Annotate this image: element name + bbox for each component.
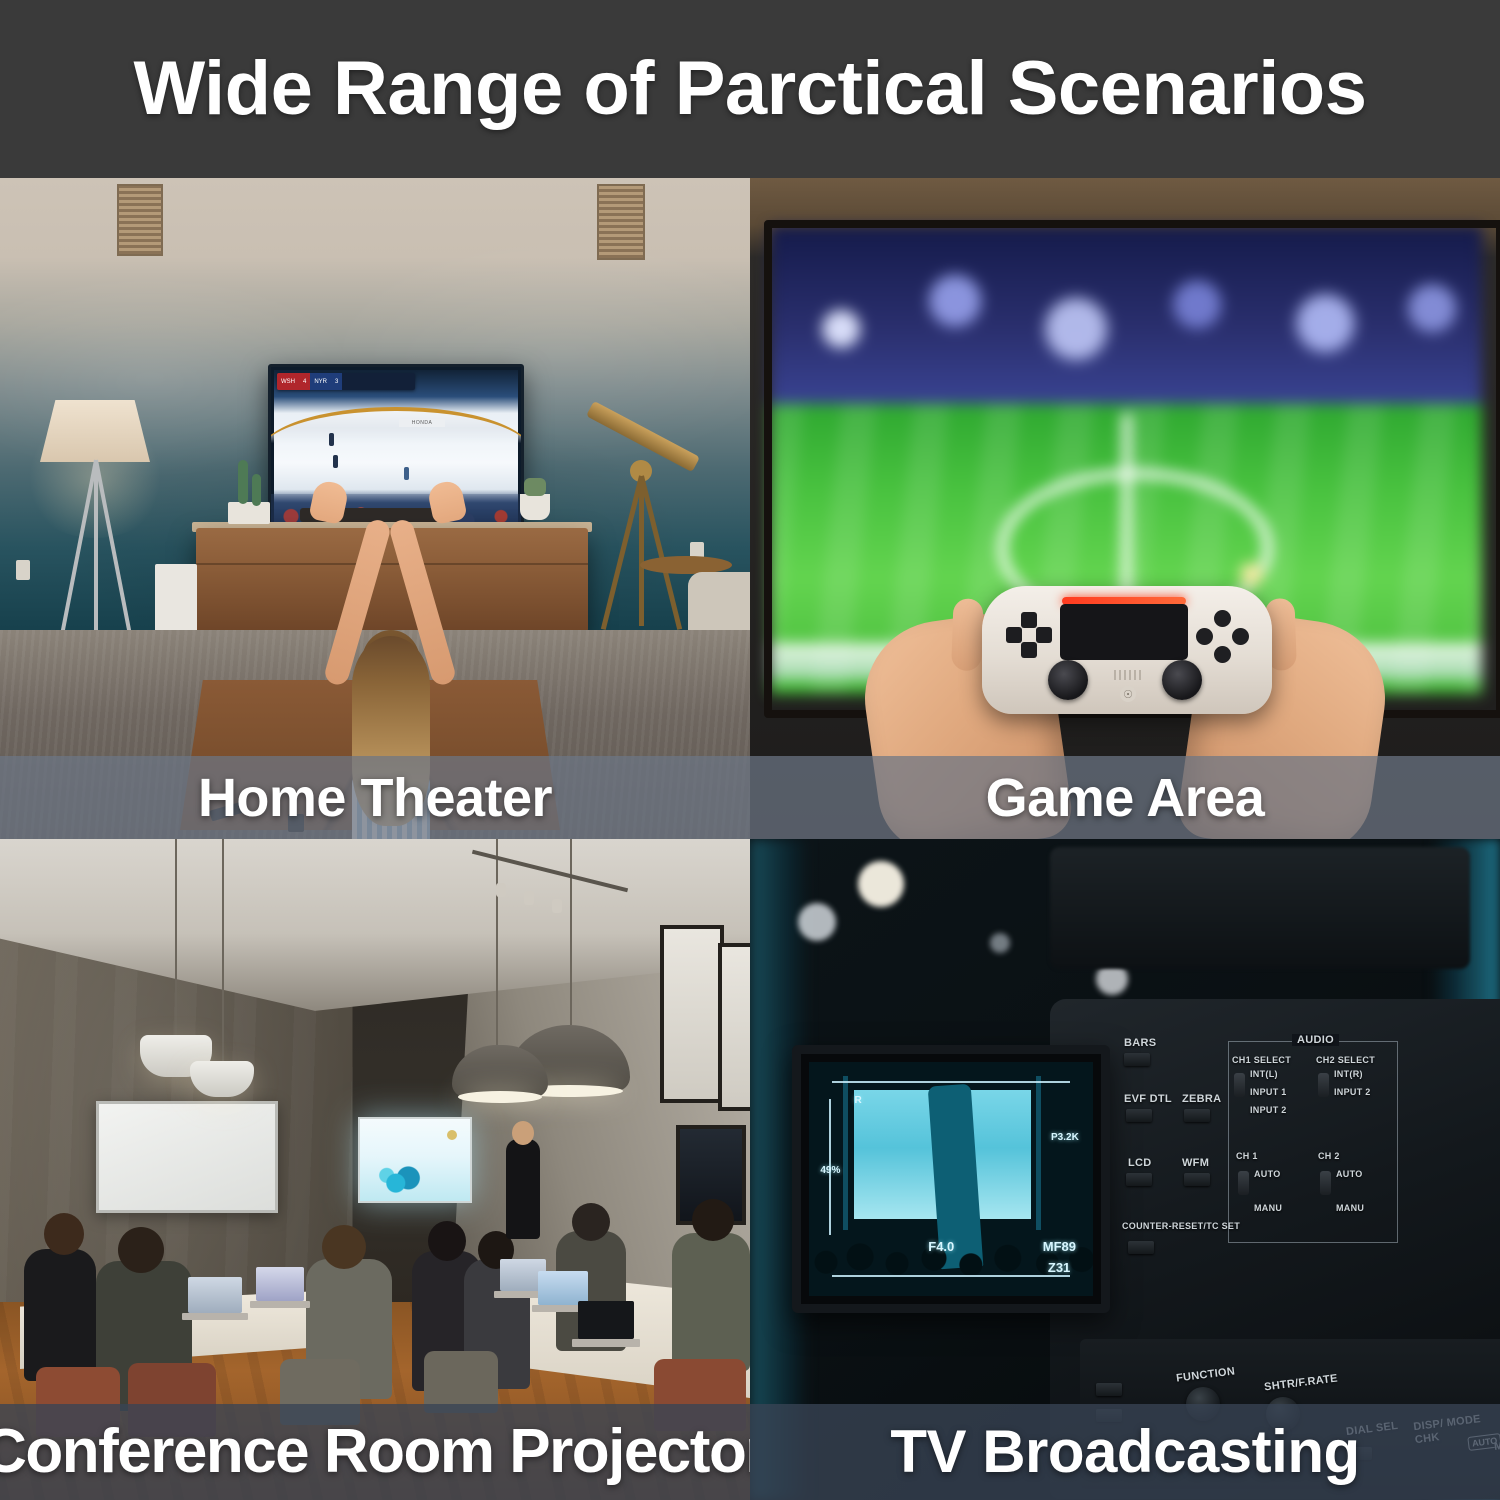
scoreboard: WSH 4 NYR 3: [277, 373, 415, 390]
hockey-player: [333, 455, 338, 468]
dial-sel-label: DIAL SEL: [1345, 1420, 1398, 1438]
shutter-rate-dial[interactable]: [1266, 1397, 1300, 1431]
osd-battery-percent: 49%: [820, 1165, 840, 1176]
cactus-plant: [252, 474, 261, 506]
scoreboard-score-b: 3: [331, 373, 342, 390]
plant-pot: [520, 494, 550, 520]
frame-guide-line: [832, 1275, 1071, 1277]
head: [428, 1221, 466, 1261]
hand: [426, 479, 468, 525]
bokeh-light: [858, 861, 904, 907]
projection-screen: [358, 1117, 472, 1203]
head: [322, 1225, 366, 1269]
counter-reset-label: COUNTER-RESET/TC SET: [1122, 1221, 1240, 1231]
counter-reset-button[interactable]: [1128, 1241, 1154, 1254]
lcd-image: R 49% F4.0 MF89 Z31 P3.2K: [809, 1062, 1093, 1296]
ch2-select-label: CH2 SELECT: [1316, 1055, 1375, 1065]
succulent-plant: [524, 478, 546, 496]
touchpad[interactable]: [1060, 604, 1188, 660]
window: [660, 925, 724, 1103]
chair: [654, 1359, 746, 1431]
hand: [308, 479, 350, 525]
chair: [280, 1359, 360, 1425]
scoreboard-team-a: WSH: [277, 373, 299, 390]
chair: [36, 1367, 120, 1437]
osd-resolution: P3.2K: [1051, 1132, 1079, 1143]
ch2-manu-label: MANU: [1336, 1203, 1364, 1213]
panel-tv-broadcasting: R 49% F4.0 MF89 Z31 P3.2K BARS EVF DTL Z…: [750, 839, 1500, 1500]
int-r-label: INT(R): [1334, 1069, 1363, 1079]
presenter: [506, 1139, 540, 1239]
cactus-plant: [238, 460, 248, 504]
right-analog-stick[interactable]: [1162, 660, 1202, 700]
input2-label: INPUT 2: [1334, 1087, 1371, 1097]
camera-lcd-viewfinder[interactable]: R 49% F4.0 MF89 Z31 P3.2K: [792, 1045, 1110, 1313]
laptop-screen: [578, 1301, 634, 1339]
lamp-cord: [496, 839, 498, 1045]
record-button[interactable]: [1096, 1383, 1122, 1396]
home-theater-photo: HONDA WSH 4 NYR 3: [0, 178, 750, 839]
attendee: [672, 1233, 750, 1371]
controller-speaker: [1114, 670, 1142, 680]
lamp-leg: [94, 460, 98, 632]
ch2-label: CH 2: [1318, 1151, 1340, 1161]
wall-outlet: [16, 560, 30, 580]
laptop-screen: [538, 1271, 588, 1305]
scenario-grid: HONDA WSH 4 NYR 3: [0, 178, 1500, 1500]
osd-focus: MF89: [1043, 1239, 1076, 1254]
function-label: FUNCTION: [1175, 1365, 1235, 1384]
evf-dtl-label: EVF DTL: [1124, 1093, 1172, 1105]
shtr-frate-label: SHTR/F.RATE: [1264, 1373, 1339, 1394]
function-dial[interactable]: [1186, 1387, 1220, 1421]
scoreboard-score-a: 4: [299, 373, 310, 390]
scenario-collage: Wide Range of Parctical Scenarios: [0, 0, 1500, 1500]
laptop-screen: [188, 1277, 242, 1313]
camera-bottom-panel: FUNCTION SHTR/F.RATE DIAL SEL DISP/ MODE…: [1080, 1339, 1500, 1489]
spotlight-icon: [524, 891, 534, 905]
lcd-button[interactable]: [1126, 1173, 1152, 1186]
panel-home-theater: HONDA WSH 4 NYR 3: [0, 178, 750, 839]
laptop-base: [250, 1301, 310, 1308]
menu-button[interactable]: [1096, 1409, 1122, 1422]
input1-label: INPUT 1: [1250, 1087, 1287, 1097]
bokeh-light: [990, 933, 1010, 953]
ch2-select-switch[interactable]: [1318, 1073, 1329, 1097]
panel-game-area: ☉ Game Area: [750, 178, 1500, 839]
head: [692, 1199, 734, 1241]
ch2-auto-manu-switch[interactable]: [1320, 1171, 1331, 1195]
osd-zoom: Z31: [1048, 1260, 1070, 1275]
game-area-photo: ☉: [750, 178, 1500, 839]
evf-dtl-button[interactable]: [1126, 1109, 1152, 1122]
panel-conference-room: Conference Room Projector: [0, 839, 750, 1500]
bars-button[interactable]: [1124, 1053, 1150, 1066]
lcd-label: LCD: [1128, 1157, 1152, 1169]
bokeh-light: [798, 903, 836, 941]
finger: [951, 598, 983, 671]
ch2-auto-label: AUTO: [1336, 1169, 1363, 1179]
spotlight-icon: [496, 883, 506, 897]
ch1-select-switch[interactable]: [1234, 1073, 1245, 1097]
hockey-player: [329, 433, 334, 446]
page-title: Wide Range of Parctical Scenarios: [133, 51, 1366, 127]
playstation-logo-icon[interactable]: ☉: [1120, 686, 1136, 702]
left-analog-stick[interactable]: [1048, 660, 1088, 700]
camera-control-panel: BARS EVF DTL ZEBRA LCD WFM COUNTER-RESET…: [1120, 1035, 1420, 1305]
wfm-label: WFM: [1182, 1157, 1209, 1169]
person-celebrating: [300, 468, 480, 839]
ch1-label: CH 1: [1236, 1151, 1258, 1161]
hair: [352, 636, 430, 826]
tv-broadcasting-photo: R 49% F4.0 MF89 Z31 P3.2K BARS EVF DTL Z…: [750, 839, 1500, 1500]
floor-lamp-shade: [40, 400, 150, 462]
osd-rec-indicator: R: [854, 1095, 861, 1106]
head: [572, 1203, 610, 1241]
ch1-select-label: CH1 SELECT: [1232, 1055, 1291, 1065]
projected-logo-icon: [447, 1130, 457, 1140]
laptop-base: [182, 1313, 248, 1320]
ch1-auto-label: AUTO: [1254, 1169, 1281, 1179]
projected-image: [373, 1153, 430, 1196]
wall-vent-icon: [597, 184, 645, 260]
lamp-cord: [222, 839, 224, 1061]
whiteboard: [96, 1101, 278, 1213]
wall-vent-icon: [117, 184, 163, 256]
spotlight-icon: [552, 899, 562, 913]
plant-pot: [228, 502, 270, 524]
stage-truss: [1036, 1076, 1041, 1230]
laptop-screen: [256, 1267, 304, 1301]
int-l-label: INT(L): [1250, 1069, 1278, 1079]
header-banner: Wide Range of Parctical Scenarios: [0, 0, 1500, 178]
scoreboard-period: [342, 373, 415, 390]
conference-room-photo: [0, 839, 750, 1500]
lamp-cord: [570, 839, 572, 1025]
frame-guide-line: [832, 1081, 1071, 1083]
bars-label: BARS: [1124, 1037, 1156, 1049]
head: [44, 1213, 84, 1255]
chair: [424, 1351, 498, 1413]
laptop-base: [572, 1339, 640, 1347]
telescope-leg: [639, 476, 644, 626]
game-controller[interactable]: ☉: [982, 586, 1272, 714]
dpad-icon[interactable]: [1006, 612, 1052, 658]
scoreboard-team-b: NYR: [310, 373, 331, 390]
lamp-cord: [175, 839, 177, 1035]
rink-advertisement: HONDA: [399, 419, 445, 427]
zebra-label: ZEBRA: [1182, 1093, 1221, 1105]
window: [718, 943, 750, 1111]
ch1-manu-label: MANU: [1254, 1203, 1282, 1213]
attendee: [24, 1249, 96, 1381]
osd-aperture: F4.0: [928, 1239, 954, 1254]
audio-label: AUDIO: [1292, 1034, 1339, 1046]
input2-label: INPUT 2: [1250, 1105, 1287, 1115]
camera-top-rig: [1050, 847, 1470, 969]
presenter-head: [512, 1121, 534, 1145]
mode-check-button[interactable]: [1346, 1447, 1372, 1460]
zebra-button[interactable]: [1184, 1109, 1210, 1122]
action-buttons-icon[interactable]: [1196, 610, 1248, 662]
stage-truss: [843, 1076, 848, 1230]
head: [118, 1227, 164, 1273]
wfm-button[interactable]: [1184, 1173, 1210, 1186]
chair: [128, 1363, 216, 1437]
ch1-auto-manu-switch[interactable]: [1238, 1171, 1249, 1195]
